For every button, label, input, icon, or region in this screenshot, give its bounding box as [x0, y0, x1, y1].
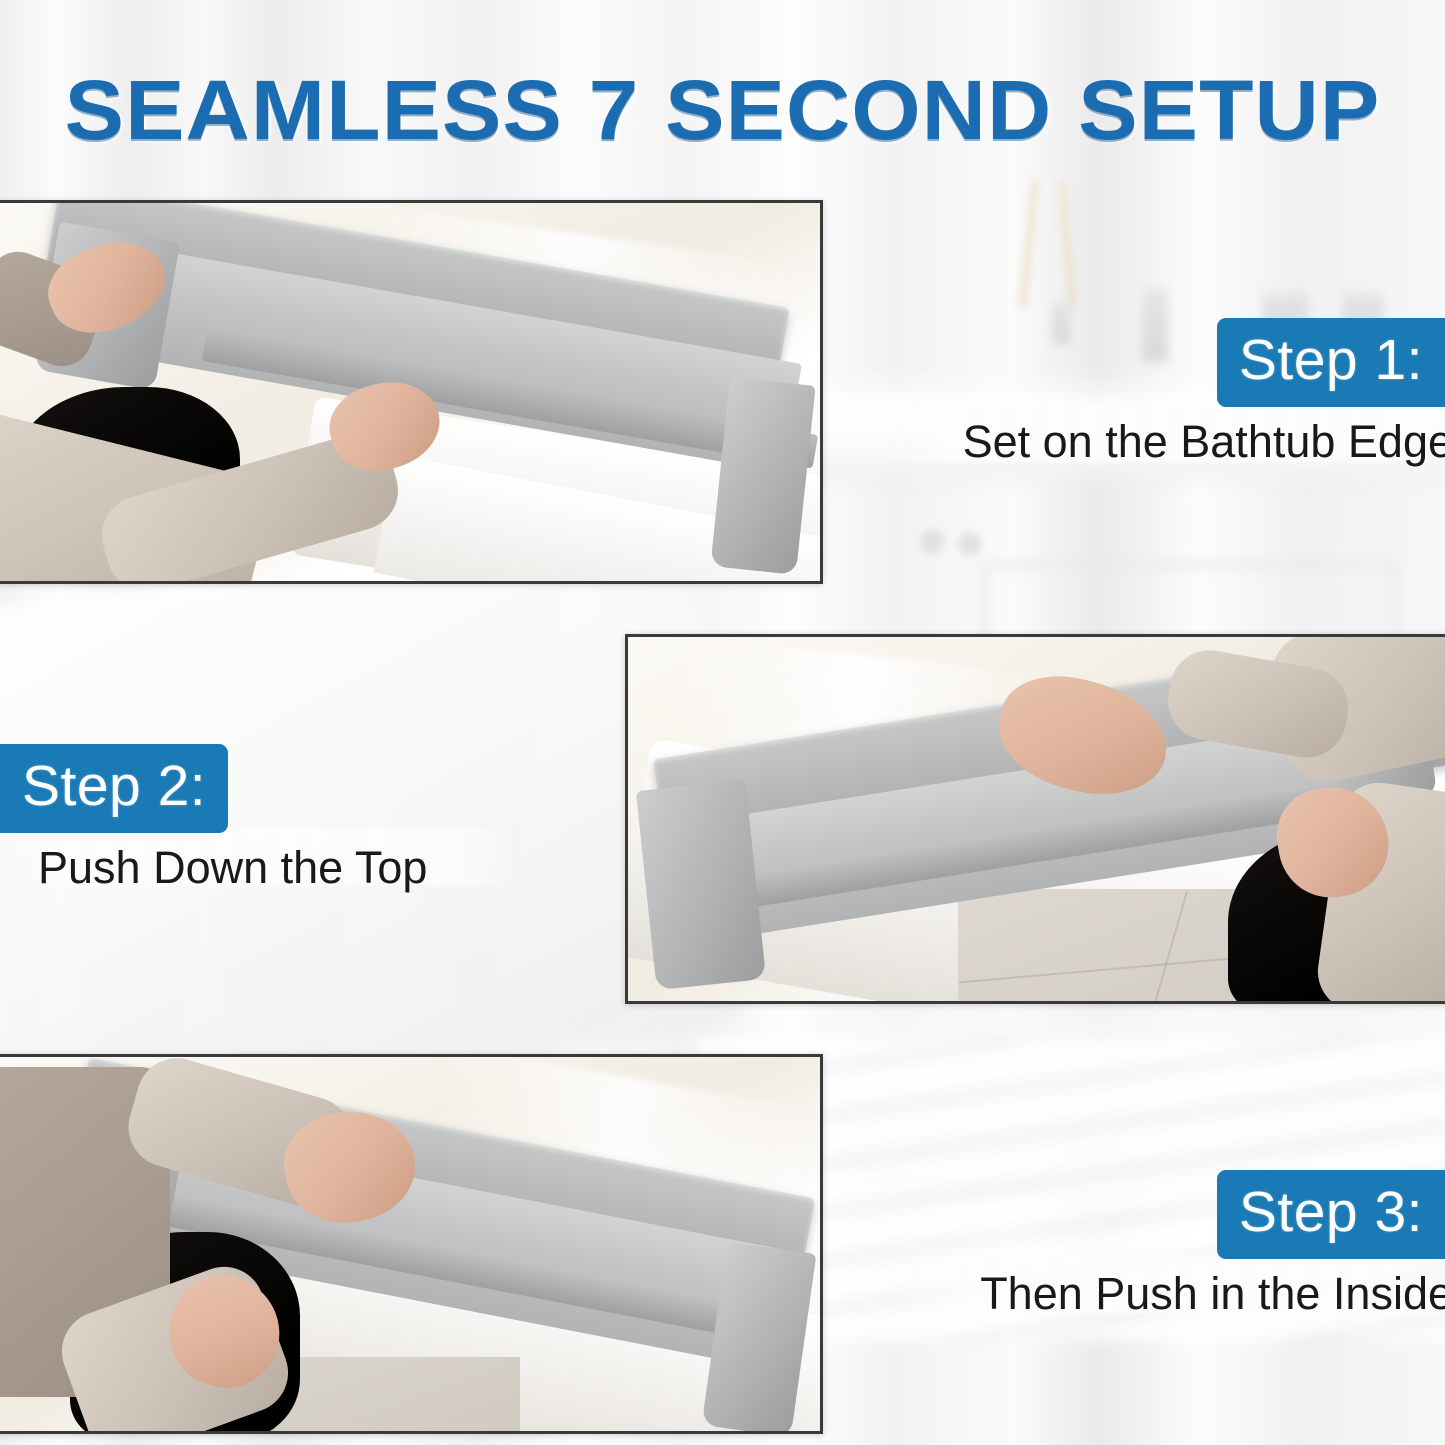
step-1-label-block: Step 1: Set on the Bathtub Edge	[963, 318, 1445, 467]
step-2-photo	[625, 634, 1445, 1004]
cabinet-knob-icon	[958, 532, 982, 556]
step-1-badge: Step 1:	[1217, 318, 1445, 407]
page-title: SEAMLESS 7 SECOND SETUP	[0, 68, 1445, 152]
step-2-caption: Push Down the Top	[38, 843, 427, 893]
infographic-canvas: SEAMLESS 7 SECOND SETUP	[0, 0, 1445, 1445]
step-3-scene	[0, 1057, 820, 1431]
step-2-badge: Step 2:	[0, 744, 228, 833]
cabinet-knob-icon	[920, 530, 944, 554]
step-2-scene	[628, 637, 1445, 1001]
step-2-label-block: Step 2: Push Down the Top	[0, 744, 427, 893]
step-1-photo	[0, 200, 823, 584]
splash-guard-left-end	[636, 780, 766, 990]
step-1-scene	[0, 203, 820, 581]
step-3-badge: Step 3:	[1217, 1170, 1445, 1259]
step-1-caption: Set on the Bathtub Edge	[963, 417, 1445, 467]
step-3-photo	[0, 1054, 823, 1434]
step-3-label-block: Step 3: Then Push in the Inside	[980, 1170, 1445, 1319]
decor-reed-icon	[1058, 180, 1075, 310]
decor-reed-icon	[1019, 178, 1039, 308]
step-3-caption: Then Push in the Inside	[980, 1269, 1445, 1319]
